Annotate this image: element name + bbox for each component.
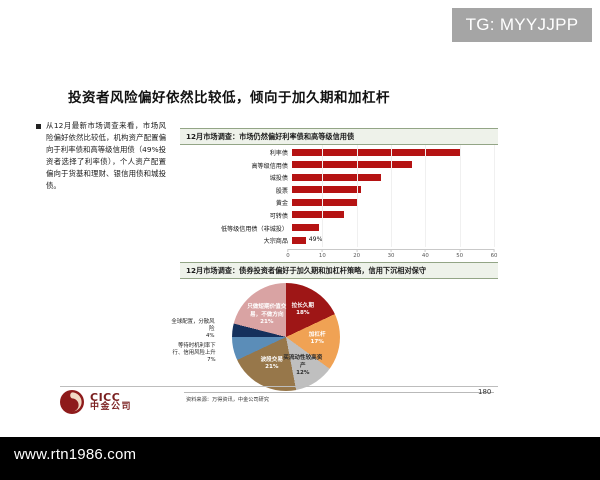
bar-category-label: 黄金 xyxy=(180,198,292,207)
telegram-watermark: TG: MYYJJPP xyxy=(452,8,592,42)
bar-gridline xyxy=(460,145,461,247)
bar-chart-panel: 12月市场调查：市场仍然偏好利率债和高等级信用债 利率债高等级信用债城投债股票黄… xyxy=(180,128,498,256)
bar-category-label: 大宗商品 xyxy=(180,236,292,245)
tick-label: 0 xyxy=(286,253,289,259)
bar-value-label: 49% xyxy=(309,236,323,243)
bar-x-tick: 0 xyxy=(286,249,289,259)
bar-gridline xyxy=(357,145,358,247)
bar-gridline xyxy=(322,145,323,247)
site-watermark: www.rtn1986.com xyxy=(14,446,136,463)
bar-x-tick: 30 xyxy=(388,249,395,259)
tick-mark xyxy=(288,249,289,252)
bar-gridline xyxy=(494,145,495,247)
bar-fill xyxy=(292,224,319,231)
bullet-square-icon xyxy=(36,124,41,129)
tick-label: 20 xyxy=(353,253,360,259)
tick-mark xyxy=(390,249,391,252)
bar-rows: 利率债高等级信用债城投债股票黄金可转债低等级信用债（非城投）大宗商品49% xyxy=(180,147,498,248)
bar-gridline xyxy=(391,145,392,247)
bar-x-ticks: 0102030405060 xyxy=(288,249,494,261)
tick-mark xyxy=(322,249,323,252)
footer-divider xyxy=(60,386,498,387)
pie-slice-label: 全球配置，分散风险4% xyxy=(171,319,215,340)
bar-category-label: 低等级信用债（非城投） xyxy=(180,224,292,233)
tick-label: 40 xyxy=(422,253,429,259)
tick-mark xyxy=(459,249,460,252)
bar-fill xyxy=(292,211,344,218)
bullet-block: 从12月最新市场调查来看，市场风险偏好依然比较低，机构资产配置偏向于利率债和高等… xyxy=(36,120,166,192)
bar-x-tick: 40 xyxy=(422,249,429,259)
bar-row: 高等级信用债 xyxy=(180,160,498,171)
bar-row: 可转债 xyxy=(180,210,498,221)
bar-row: 低等级信用债（非城投） xyxy=(180,223,498,234)
bar-category-label: 利率债 xyxy=(180,148,292,157)
bar-row: 大宗商品49% xyxy=(180,235,498,246)
bar-row: 股票 xyxy=(180,185,498,196)
bar-category-label: 股票 xyxy=(180,186,292,195)
pie-slice-label: 波段交易21% xyxy=(250,357,294,372)
pie-slice-label: 等待时机利率下行、信用风险上升7% xyxy=(172,343,216,364)
cicc-logo-text: CICC 中金公司 xyxy=(90,392,132,413)
bar-fill xyxy=(292,174,381,181)
bar-fill xyxy=(292,186,361,193)
bar-category-label: 高等级信用债 xyxy=(180,161,292,170)
page-number: 180 xyxy=(478,388,491,396)
bar-x-tick: 60 xyxy=(491,249,498,259)
tick-label: 50 xyxy=(456,253,463,259)
bar-row: 利率债 xyxy=(180,147,498,158)
bar-x-tick: 20 xyxy=(353,249,360,259)
tick-mark xyxy=(425,249,426,252)
cicc-circle-icon xyxy=(60,390,84,414)
bar-category-label: 城投债 xyxy=(180,173,292,182)
cicc-logo-chinese: 中金公司 xyxy=(90,403,132,412)
bar-chart-header: 12月市场调查：市场仍然偏好利率债和高等级信用债 xyxy=(180,128,498,145)
bullet-item: 从12月最新市场调查来看，市场风险偏好依然比较低，机构资产配置偏向于利率债和高等… xyxy=(36,120,166,192)
pie-chart: 拉长久期18%加杠杆17%买流动性较高资产12%波段交易21%等待时机利率下行、… xyxy=(180,279,498,394)
pie-slice-label: 加杠杆17% xyxy=(295,332,339,347)
tick-label: 30 xyxy=(388,253,395,259)
pie-chart-header: 12月市场调查：债券投资者偏好于加久期和加杠杆策略，信用下沉相对保守 xyxy=(180,262,498,279)
bar-fill xyxy=(292,149,460,156)
bar-chart-header-text: 12月市场调查：市场仍然偏好利率债和高等级信用债 xyxy=(186,132,354,142)
bar-row: 城投债 xyxy=(180,172,498,183)
bar-row: 黄金 xyxy=(180,197,498,208)
bar-fill xyxy=(292,237,306,244)
bar-x-tick: 50 xyxy=(456,249,463,259)
page-title: 投资者风险偏好依然比较低，倾向于加久期和加杠杆 xyxy=(68,86,538,106)
bar-x-tick: 10 xyxy=(319,249,326,259)
bar-fill xyxy=(292,161,412,168)
bar-fill xyxy=(292,199,357,206)
bullet-text: 从12月最新市场调查来看，市场风险偏好依然比较低，机构资产配置偏向于利率债和高等… xyxy=(46,120,166,192)
cicc-logo-mark-icon xyxy=(60,390,84,414)
bar-chart: 利率债高等级信用债城投债股票黄金可转债低等级信用债（非城投）大宗商品49% 01… xyxy=(180,145,498,253)
tick-label: 10 xyxy=(319,253,326,259)
pie-slice-label: 只做短期价值交易，不做方向21% xyxy=(245,304,289,326)
tick-mark xyxy=(493,249,494,252)
source-note: 资料来源：万得资讯，中金公司研究 xyxy=(186,396,269,403)
slide-canvas: 投资者风险偏好依然比较低，倾向于加久期和加杠杆 从12月最新市场调查来看，市场风… xyxy=(0,44,600,437)
bar-gridline xyxy=(425,145,426,247)
tick-mark xyxy=(356,249,357,252)
pie-chart-header-text: 12月市场调查：债券投资者偏好于加久期和加杠杆策略，信用下沉相对保守 xyxy=(186,266,426,276)
tick-label: 60 xyxy=(491,253,498,259)
pie-chart-panel: 12月市场调查：债券投资者偏好于加久期和加杠杆策略，信用下沉相对保守 拉长久期1… xyxy=(180,262,498,412)
cicc-logo: CICC 中金公司 xyxy=(60,390,132,414)
source-divider xyxy=(184,392,494,393)
bar-category-label: 可转债 xyxy=(180,211,292,220)
